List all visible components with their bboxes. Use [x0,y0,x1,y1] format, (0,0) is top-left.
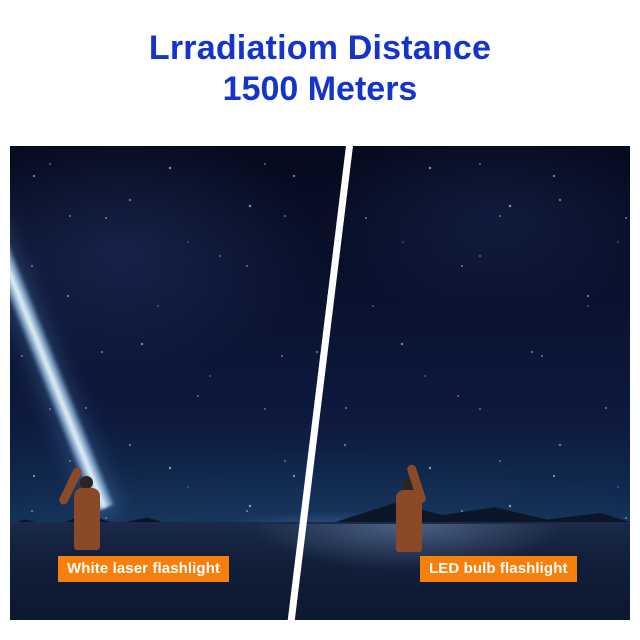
person-body [74,488,100,550]
caption-led-bulb-flashlight: LED bulb flashlight [420,556,577,582]
page-title: Lrradiatiom Distance 1500 Meters [0,0,640,111]
caption-white-laser-flashlight: White laser flashlight [58,556,229,582]
person-holding-led [380,458,440,554]
comparison-photo: White laser flashlight LED bulb flashlig… [10,146,630,620]
title-line-2: 1500 Meters [0,69,640,110]
title-line-1: Lrradiatiom Distance [0,28,640,69]
person-holding-laser [60,460,120,550]
